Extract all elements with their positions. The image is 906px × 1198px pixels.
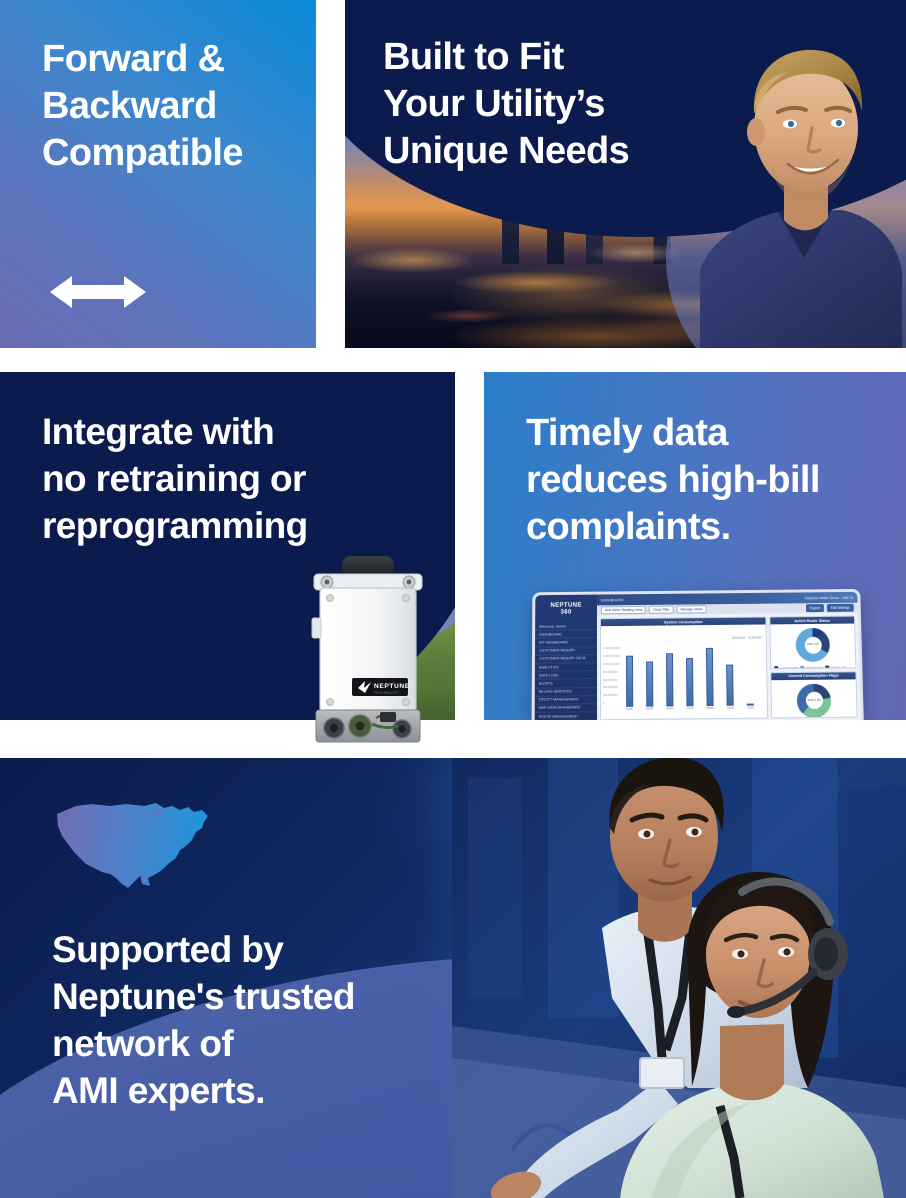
tile-built-headline: Built to Fit Your Utility’s Unique Needs <box>383 34 629 175</box>
dashboard-logo-sub: 360 <box>561 610 572 616</box>
tile-integrate-headline: Integrate with no retraining or reprogra… <box>42 408 308 549</box>
chart-y-axis: 1,400,000,000 1,200,000,000 1,000,000,00… <box>603 647 620 705</box>
man-portrait-photo <box>692 20 902 348</box>
ytick-4: 600,000,000 <box>603 678 620 681</box>
dashboard-sidebar: NEPTUNE 360 Welcome, Admin DASHBOARD MY … <box>535 595 597 720</box>
consumption-flags-panel: Current Consumption Flags Total 1.6K <box>770 671 857 718</box>
sidebar-item-route-management[interactable]: ROUTE MANAGEMENT <box>535 712 597 720</box>
ytick-7: 0 <box>603 702 620 705</box>
route-status-donut: Total 112 <box>770 624 855 667</box>
svg-text:NEPTUNE: NEPTUNE <box>374 683 410 690</box>
clear-filter-button[interactable]: Clear Filter <box>649 606 674 614</box>
neptune-360-dashboard-screenshot: NEPTUNE 360 Welcome, Admin DASHBOARD MY … <box>532 589 864 720</box>
xtick-3: 07/06 <box>686 706 693 710</box>
consumption-bar-chart: 1,400,000,000 1,200,000,000 1,000,000,00… <box>601 644 767 708</box>
support-agents-photo <box>452 758 906 1198</box>
ytick-6: 200,000,000 <box>603 694 620 697</box>
manage-views-button[interactable]: Manage Views <box>677 605 707 613</box>
edit-settings-button[interactable]: Edit Settings <box>827 604 854 612</box>
bar-3 <box>686 658 693 707</box>
ytick-1: 1,200,000,000 <box>603 655 620 658</box>
view-filter-select[interactable]: AMI Meter Reading View <box>601 606 646 614</box>
bar-5 <box>726 664 734 706</box>
tile-timely-headline: Timely data reduces high-bill complaints… <box>526 410 820 551</box>
dashboard-header-title: Neptune Water Demo - AMI 02 <box>805 595 854 599</box>
tile-forward-backward-compatible: Forward & Backward Compatible <box>0 0 316 348</box>
xtick-6: 10/06 <box>747 706 754 710</box>
tile-timely-data: Timely data reduces high-bill complaints… <box>484 372 906 720</box>
svg-text:TECHNOLOGY: TECHNOLOGY <box>374 691 399 695</box>
double-arrow-icon <box>50 272 146 312</box>
bar-6 <box>747 704 754 706</box>
ytick-0: 1,400,000,000 <box>603 647 620 650</box>
system-consumption-panel: System Consumption 11/01/2022 - 11/30/20… <box>600 617 768 720</box>
tile-built-to-fit: Built to Fit Your Utility’s Unique Needs <box>345 0 906 348</box>
ytick-5: 400,000,000 <box>603 686 620 689</box>
legend-item-1: Scheduled 67% <box>805 666 823 669</box>
benefits-collage: Forward & Backward Compatible Built to F… <box>0 0 906 1198</box>
route-donut-center: Total 112 <box>807 643 819 647</box>
bar-1 <box>646 662 653 707</box>
route-status-legend: Completed 23% Scheduled 67% Skipped 10% <box>771 666 855 669</box>
bar-2 <box>666 654 673 707</box>
chart-date-range: 11/01/2022 - 11/30/2022 <box>732 636 762 640</box>
active-route-status-panel: Active Route Status Total 112 Completed … <box>769 616 856 669</box>
dashboard-logo: NEPTUNE 360 <box>535 602 597 616</box>
xtick-5: 09/06 <box>727 706 734 710</box>
xtick-4: 08/06 <box>707 706 714 710</box>
xtick-1: 05/06 <box>646 707 653 711</box>
legend-item-2: Skipped 10% <box>831 666 846 669</box>
neptune-water-meter-endpoint: NEPTUNE TECHNOLOGY <box>302 552 432 756</box>
dashboard-body: System Consumption 11/01/2022 - 11/30/20… <box>597 613 861 720</box>
usage-donut-center: Total 1.6K <box>807 699 820 703</box>
ytick-2: 1,000,000,000 <box>603 663 620 666</box>
dashboard-main: DASHBOARD Neptune Water Demo - AMI 02 AM… <box>597 592 861 720</box>
dashboard-logo-text: NEPTUNE <box>550 603 581 609</box>
xtick-0: 04/06 <box>626 707 633 711</box>
dashboard-breadcrumb: DASHBOARD <box>601 598 624 602</box>
xtick-2: 06/06 <box>666 707 673 711</box>
banner-support-headline: Supported by Neptune's trusted network o… <box>52 926 355 1114</box>
legend-item-0: Completed 23% <box>780 667 799 669</box>
us-map-icon <box>52 798 220 898</box>
dashboard-right-column: Active Route Status Total 112 Completed … <box>769 616 857 719</box>
tile-compatible-headline: Forward & Backward Compatible <box>42 36 243 177</box>
consumption-flags-donut: Total 1.6K <box>771 679 856 718</box>
bar-0 <box>626 655 633 707</box>
ytick-3: 800,000,000 <box>603 671 620 674</box>
export-button[interactable]: Export <box>806 604 824 612</box>
bar-4 <box>706 648 714 706</box>
